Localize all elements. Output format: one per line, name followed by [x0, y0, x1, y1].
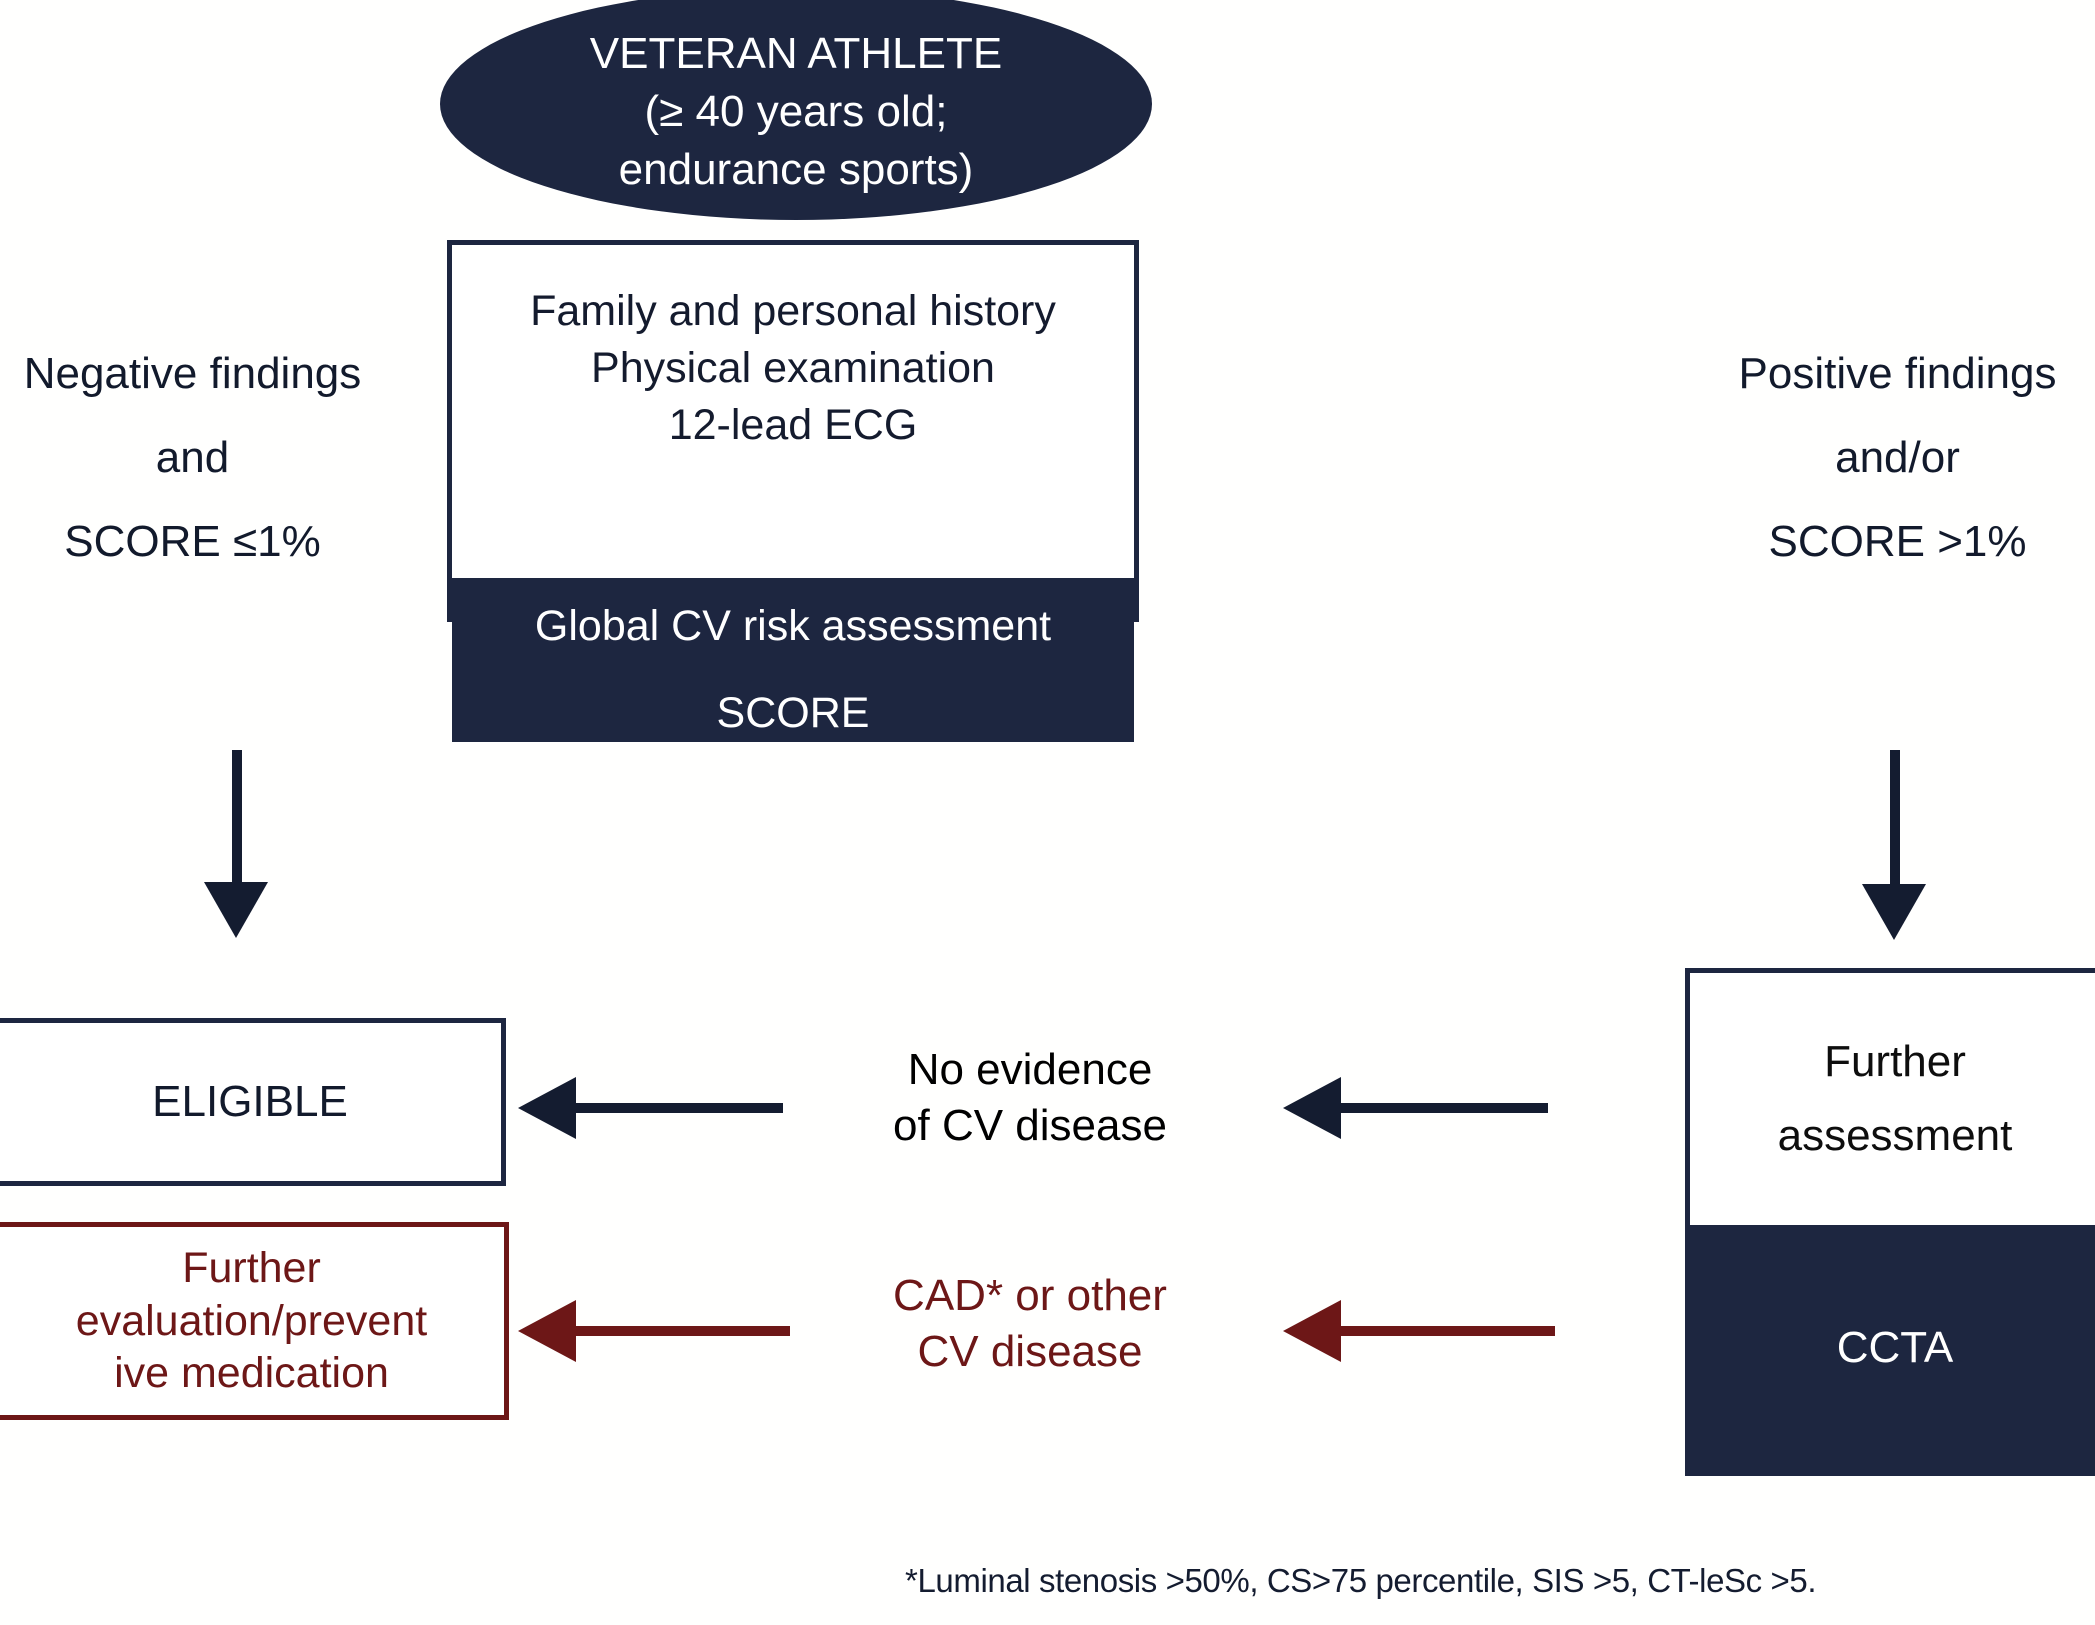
- cad-label: CAD* or other CV disease: [790, 1268, 1270, 1381]
- initial-eval-line-3: 12-lead ECG: [669, 397, 918, 454]
- arrow-shaft: [1339, 1326, 1555, 1336]
- cad-line-1: CAD* or other: [790, 1268, 1270, 1324]
- veteran-athlete-line-2: (≥ 40 years old;: [645, 83, 948, 141]
- positive-findings-label: Positive findings and/or SCORE >1%: [1700, 352, 2095, 604]
- veteran-athlete-line-3: endurance sports): [619, 141, 974, 199]
- risk-assessment-line-1: Global CV risk assessment: [535, 598, 1051, 655]
- further-assessment-line-2: assessment: [1778, 1114, 2013, 1158]
- positive-findings-line-3: SCORE >1%: [1700, 520, 2095, 564]
- initial-evaluation-section: Family and personal history Physical exa…: [452, 245, 1134, 578]
- veteran-athlete-line-1: VETERAN ATHLETE: [590, 25, 1002, 83]
- arrow-shaft: [574, 1326, 790, 1336]
- negative-findings-line-2: and: [0, 436, 385, 480]
- arrow-head: [1862, 884, 1926, 940]
- initial-eval-line-1: Family and personal history: [530, 283, 1056, 340]
- flowchart-canvas: VETERAN ATHLETE (≥ 40 years old; enduran…: [0, 0, 2095, 1625]
- initial-eval-line-2: Physical examination: [591, 340, 995, 397]
- footnote: *Luminal stenosis >50%, CS>75 percentile…: [905, 1562, 2095, 1600]
- central-assessment-node: Family and personal history Physical exa…: [447, 240, 1139, 622]
- no-evidence-label: No evidence of CV disease: [790, 1042, 1270, 1155]
- veteran-athlete-node: VETERAN ATHLETE (≥ 40 years old; enduran…: [440, 0, 1152, 220]
- positive-findings-line-2: and/or: [1700, 436, 2095, 480]
- arrow-down-right-icon: [1862, 750, 1926, 942]
- arrow-head: [1283, 1300, 1341, 1362]
- further-evaluation-line-2: evaluation/prevent: [76, 1295, 427, 1347]
- risk-assessment-section: Global CV risk assessment SCORE: [452, 578, 1134, 742]
- negative-findings-label: Negative findings and SCORE ≤1%: [0, 352, 385, 604]
- further-assessment-section: Further assessment: [1690, 973, 2095, 1225]
- no-evidence-line-2: of CV disease: [790, 1098, 1270, 1154]
- cad-line-2: CV disease: [790, 1324, 1270, 1380]
- arrow-shaft: [232, 750, 242, 884]
- further-assessment-node: Further assessment CCTA: [1685, 968, 2095, 1476]
- arrow-head: [1283, 1077, 1341, 1139]
- ccta-label: CCTA: [1837, 1323, 1954, 1373]
- negative-findings-line-1: Negative findings: [0, 352, 385, 396]
- arrow-shaft: [1339, 1103, 1548, 1113]
- arrow-left-to-cad-icon: [1283, 1300, 1555, 1362]
- eligible-label: ELIGIBLE: [152, 1077, 348, 1127]
- arrow-head: [518, 1077, 576, 1139]
- further-assessment-line-1: Further: [1824, 1040, 1966, 1084]
- ccta-section: CCTA: [1690, 1225, 2095, 1471]
- arrow-shaft: [574, 1103, 783, 1113]
- further-evaluation-node: Further evaluation/prevent ive medicatio…: [0, 1222, 509, 1420]
- eligible-node: ELIGIBLE: [0, 1018, 506, 1186]
- arrow-left-to-further-evaluation-icon: [518, 1300, 790, 1362]
- arrow-head: [204, 882, 268, 938]
- positive-findings-line-1: Positive findings: [1700, 352, 2095, 396]
- no-evidence-line-1: No evidence: [790, 1042, 1270, 1098]
- risk-assessment-line-2: SCORE: [717, 685, 870, 742]
- arrow-shaft: [1890, 750, 1900, 886]
- arrow-left-to-no-evidence-icon: [1283, 1077, 1548, 1139]
- arrow-left-to-eligible-icon: [518, 1077, 783, 1139]
- further-evaluation-line-3: ive medication: [114, 1347, 389, 1399]
- arrow-head: [518, 1300, 576, 1362]
- further-evaluation-line-1: Further: [182, 1242, 321, 1294]
- negative-findings-line-3: SCORE ≤1%: [0, 520, 385, 564]
- arrow-down-left-icon: [204, 750, 268, 940]
